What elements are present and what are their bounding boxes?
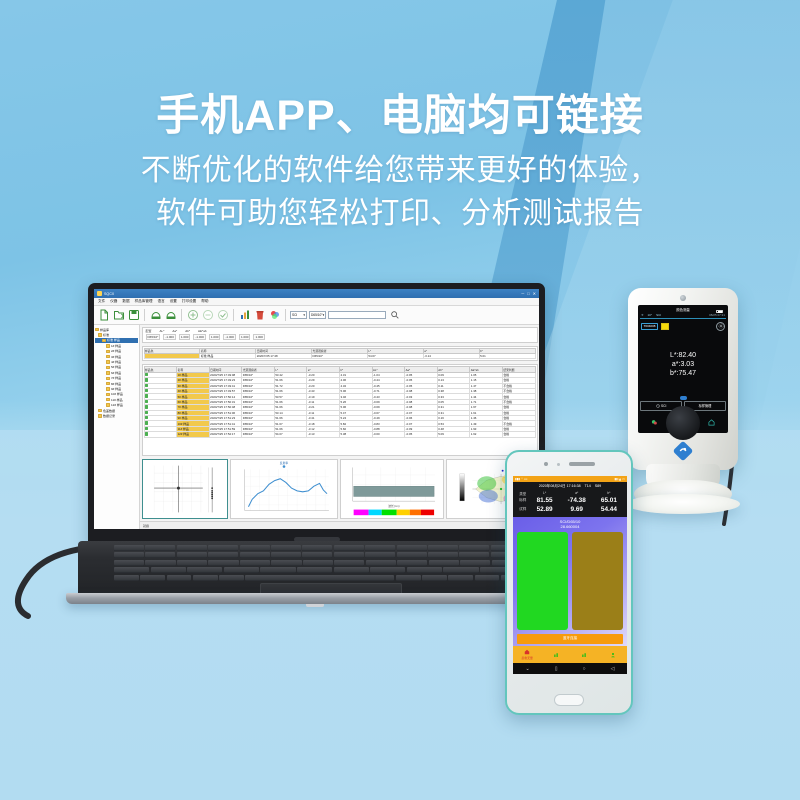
menu-item-language[interactable]: 语言 — [158, 299, 165, 304]
key[interactable] — [271, 545, 301, 551]
key[interactable] — [114, 575, 139, 581]
key[interactable] — [428, 545, 458, 551]
phone-row-value: 65.01 — [594, 496, 624, 505]
svg-text:波长(nm): 波长(nm) — [388, 504, 399, 508]
folder-icon — [106, 360, 110, 363]
window-titlebar: SQCX ─ □ ✕ — [94, 289, 539, 298]
phone-row-label: 试样 — [516, 505, 530, 514]
key[interactable] — [187, 567, 222, 573]
tab-list[interactable] — [570, 652, 599, 658]
device-observer: 10° — [648, 313, 653, 317]
laptop-lid: SQCX ─ □ ✕ 文件 仪器 数据 样品库管理 语言 设置 打印设置 — [88, 283, 545, 546]
device-sci-label: SCI — [661, 404, 666, 408]
illuminant-value: D65/10° — [311, 313, 323, 317]
key[interactable] — [370, 567, 405, 573]
key[interactable] — [245, 575, 394, 581]
device-sensor-dot — [680, 295, 686, 301]
standard-config-values: D65/10°-1.0001.000-1.0001.000-1.0001.000… — [144, 333, 536, 341]
table-cell: -0.05 — [405, 432, 438, 437]
toolbar-separator-1 — [144, 309, 145, 321]
menu-item-file[interactable]: 文件 — [98, 299, 105, 304]
circle-icon[interactable]: ○ — [583, 666, 586, 672]
folder-icon — [106, 382, 110, 385]
tree-node-label: 标准 样品 — [107, 338, 120, 342]
chevron-down-icon[interactable]: ▾ — [303, 313, 305, 317]
key[interactable] — [114, 560, 144, 566]
row-check-icon[interactable] — [145, 400, 148, 403]
standard-swatch — [517, 532, 568, 629]
key[interactable] — [114, 567, 149, 573]
window-body: 样品库标准标准 样品1# 样品2# 样品3# 样品4# 样品5# 样品6# 样品… — [94, 325, 539, 529]
measurement-table[interactable]: 样品色名称日期时间光源观察者L*a*b*ΔL*Δa*Δb*ΔE*ab结果判断 1… — [144, 366, 536, 437]
std-row-cell-4: 54.67 — [367, 354, 423, 359]
tree-node-label: 3# 样品 — [111, 355, 121, 359]
folder-icon — [106, 371, 110, 374]
tab-color-measure[interactable]: 颜色无量 — [513, 649, 542, 660]
key[interactable] — [271, 552, 301, 558]
chevron-down-icon[interactable]: ▾ — [323, 313, 325, 317]
key[interactable] — [459, 552, 489, 558]
std-config-value-0: D65/10° — [146, 334, 161, 340]
headline-block: 手机APP、电脑均可链接 不断优化的软件给您带来更好的体验， 软件可助您轻松打印… — [0, 92, 800, 235]
measurement-table-panel[interactable]: 样品色名称日期时间光源观察者L*a*b*ΔL*Δa*Δb*ΔE*ab结果判断 1… — [142, 364, 538, 455]
battery-icon — [716, 310, 723, 313]
device-color-swatch — [661, 323, 669, 330]
laptop: SQCX ─ □ ✕ 文件 仪器 数据 样品库管理 语言 设置 打印设置 — [60, 283, 570, 623]
phone-tag-s: S89 — [595, 484, 601, 489]
search-input[interactable] — [328, 311, 386, 319]
device-chip-row[interactable]: T004008 — [640, 319, 726, 333]
palette-icon[interactable] — [651, 413, 658, 431]
folder-icon — [102, 339, 106, 342]
standard-row-table: 样品色名称日期时间光源观察者L*a*b* 标准 样品2020/7/25 17:4… — [144, 348, 536, 360]
tab-color-measure-label: 颜色无量 — [522, 656, 533, 660]
laptop-keyboard[interactable] — [114, 545, 552, 581]
folder-icon — [106, 344, 110, 347]
menubar[interactable]: 文件 仪器 数据 样品库管理 语言 设置 打印设置 帮助 — [94, 298, 539, 306]
tree-node-label: 10# 样品 — [111, 392, 123, 396]
illuminant-select[interactable]: D65/10° ▾ — [309, 311, 326, 319]
trash-icon[interactable] — [253, 309, 266, 322]
device-mode: SCI — [656, 313, 661, 317]
bluetooth-connect-button[interactable]: 蓝牙连接 — [517, 634, 623, 644]
menu-item-print[interactable]: 打印设置 — [182, 299, 196, 304]
key[interactable] — [334, 545, 364, 551]
key[interactable] — [429, 560, 459, 566]
reflectance-band-chart[interactable]: 波长(nm) — [340, 459, 444, 519]
key[interactable] — [145, 545, 175, 551]
key[interactable] — [151, 567, 186, 573]
phone-measure-meta: 2020年08月24日 17:16:38 T14 S89 — [516, 484, 624, 489]
menu-item-settings[interactable]: 设置 — [170, 299, 177, 304]
table-cell: 5.09 — [437, 432, 470, 437]
toolbar-separator-2 — [181, 309, 182, 321]
tree-node-label: 11# 样品 — [111, 398, 123, 402]
device-sample-tag[interactable]: T004008 — [641, 323, 658, 330]
key[interactable] — [397, 552, 427, 558]
folder-icon — [106, 387, 110, 390]
headline-sub-line1: 不断优化的软件给您带来更好的体验， — [0, 150, 800, 193]
table-row[interactable]: 12# 样品2020/7/25 17:52:17D65/10°54.07-3.1… — [144, 432, 535, 437]
key[interactable] — [260, 567, 295, 573]
key[interactable] — [177, 552, 207, 558]
table-cell: 1.62 — [470, 432, 503, 437]
std-config-value-3: -1.000 — [193, 334, 206, 340]
row-check-icon[interactable] — [145, 432, 148, 435]
row-check-icon[interactable] — [145, 421, 148, 424]
measure-sample-icon[interactable] — [164, 309, 177, 322]
key[interactable] — [428, 552, 458, 558]
chart-icon[interactable] — [238, 309, 251, 322]
color-settings-icon[interactable] — [268, 309, 281, 322]
key[interactable] — [114, 545, 144, 551]
sample-library-tree[interactable]: 样品库标准标准 样品1# 样品2# 样品3# 样品4# 样品5# 样品6# 样品… — [94, 325, 140, 529]
chart-icon — [553, 652, 559, 658]
std-config-value-1: -1.000 — [163, 334, 176, 340]
key[interactable] — [448, 575, 473, 581]
signal-wifi-icons: ▮▮▮ ⌃ ▪▪▪ — [515, 477, 527, 481]
folder-icon — [106, 393, 110, 396]
search-icon[interactable] — [388, 309, 401, 322]
phone-system-nav[interactable]: ⌄ ▯ ○ ◁ — [513, 663, 627, 674]
phone-row-1: 试样52.899.6954.44 — [516, 505, 624, 514]
std-row-cell-6: 5.01 — [479, 354, 535, 359]
home-icon — [524, 649, 530, 655]
key[interactable] — [114, 552, 144, 558]
phone-mode-line: SCI/D65/10 28.660004 — [517, 519, 623, 529]
window-controls[interactable]: ─ □ ✕ — [521, 291, 536, 296]
std-row-cell-2: 2020/7/25 17:48 — [256, 354, 312, 359]
key[interactable] — [365, 545, 395, 551]
key[interactable] — [365, 552, 395, 558]
device-measure-lens — [666, 406, 700, 440]
device-a-value: a*:3.03 — [672, 361, 694, 368]
keyboard-row-3 — [114, 567, 552, 573]
phone-datetime: 2020年08月24日 17:16:38 — [539, 484, 581, 489]
phone-tag-t: T14 — [585, 484, 591, 489]
folder-icon — [106, 377, 110, 380]
std-row-cell-3: D65/10° — [312, 354, 368, 359]
menu-item-library[interactable]: 样品库管理 — [135, 299, 153, 304]
keyboard-row-4 — [114, 575, 552, 581]
phone-swatches — [517, 529, 623, 633]
tree-node-label: 4# 样品 — [111, 360, 121, 364]
status-text: 就绪 — [143, 524, 149, 528]
earpiece-speaker — [569, 462, 595, 465]
phone-row-0: 标样81.55-74.3865.01 — [516, 496, 624, 505]
device-body: 颜色测量 ✳ 10° SCI 08/25 07:31 T004008 — [628, 288, 738, 470]
tree-node-label: 8# 样品 — [111, 382, 121, 386]
table-cell: 2020/7/25 17:52:17 — [209, 432, 242, 437]
headline-sub-line2: 软件可助您轻松打印、分析测试报告 — [0, 193, 800, 236]
table-cell: 12# 样品 — [177, 432, 210, 437]
key[interactable] — [271, 560, 301, 566]
std-config-value-5: -1.000 — [223, 334, 236, 340]
key[interactable] — [443, 567, 478, 573]
row-check-icon[interactable] — [145, 373, 148, 376]
key[interactable] — [208, 560, 238, 566]
phone-swatch-panel: SCI/D65/10 28.660004 蓝牙连接 — [513, 517, 627, 646]
tree-node-label: 1# 样品 — [111, 344, 121, 348]
tree-node-label: 标准 — [103, 333, 109, 337]
keyboard-row-2 — [114, 560, 552, 566]
key[interactable] — [208, 545, 238, 551]
table-cell: 54.07 — [274, 432, 307, 437]
folder-icon — [95, 328, 99, 331]
list-icon — [581, 652, 587, 658]
key[interactable] — [240, 560, 270, 566]
std-config-header-4: ΔE*ab — [198, 329, 207, 333]
table-cell: -0.60 — [372, 432, 405, 437]
phone-row-value: 81.55 — [530, 496, 560, 505]
key[interactable] — [459, 545, 489, 551]
table-cell — [144, 432, 177, 437]
key[interactable] — [334, 560, 364, 566]
phone-row-value: -74.38 — [560, 496, 594, 505]
phone-row-value: 54.44 — [594, 505, 624, 514]
standard-config-panel: 配置ΔL*Δa*Δb*ΔE*ab D65/10°-1.0001.000-1.00… — [142, 327, 538, 343]
phone-screen: ▮▮▮ ⌃ ▪▪▪ ▮▮ ⬓ ▭ 2020年08月24日 17:16:38 T1… — [513, 476, 627, 674]
keyboard-row-0 — [114, 545, 552, 551]
handheld-colorimeter: 颜色测量 ✳ 10° SCI 08/25 07:31 T004008 — [620, 288, 748, 618]
phone-row-value: 9.69 — [560, 505, 594, 514]
key[interactable] — [145, 552, 175, 558]
tree-node-label: 色差数据 — [103, 409, 115, 413]
phone-body: ▮▮▮ ⌃ ▪▪▪ ▮▮ ⬓ ▭ 2020年08月24日 17:16:38 T1… — [505, 450, 633, 715]
sample-swatch — [572, 532, 623, 629]
tree-node-15[interactable]: 数据记录 — [95, 413, 138, 418]
tab-chart[interactable] — [542, 652, 571, 658]
toolbar[interactable]: SCI ▾ D65/10° ▾ — [94, 306, 539, 325]
device-base-plate — [626, 494, 740, 514]
key[interactable] — [177, 545, 207, 551]
spectral-curve-chart[interactable]: 反射率 — [230, 459, 338, 519]
key[interactable] — [397, 545, 427, 551]
device-l-value: L*:82.40 — [670, 352, 696, 359]
std-config-value-2: 1.000 — [179, 334, 191, 340]
tree-node-label: 7# 样品 — [111, 376, 121, 380]
folder-icon — [106, 355, 110, 358]
key[interactable] — [208, 552, 238, 558]
triangle-back-icon[interactable]: ◁ — [611, 666, 615, 672]
folder-icon — [106, 403, 110, 406]
phone-row-value: 52.89 — [530, 505, 560, 514]
row-check-icon[interactable] — [145, 405, 148, 408]
folder-icon — [106, 398, 110, 401]
device-timestamp: 08/25 07:31 — [709, 313, 725, 317]
app-logo-icon — [97, 291, 102, 296]
tree-node-label: 9# 样品 — [111, 387, 121, 391]
close-icon[interactable]: ✕ — [533, 291, 536, 296]
diamond-logo-icon — [672, 440, 694, 462]
laptop-deck — [78, 541, 552, 598]
window-title: SQCX — [104, 292, 114, 296]
row-check-icon[interactable] — [145, 411, 148, 414]
table-cell: 合格 — [502, 432, 535, 437]
phone-home-button[interactable] — [554, 694, 584, 706]
phone-lab-table: 类型L*a*b* 标样81.55-74.3865.01试样52.899.6954… — [516, 490, 624, 514]
folder-icon — [106, 366, 110, 369]
std-config-header-2: Δa* — [172, 329, 177, 333]
bluetooth-icon: ✳ — [641, 313, 644, 317]
folder-icon — [98, 333, 102, 336]
row-check-icon[interactable] — [145, 394, 148, 397]
key[interactable] — [460, 560, 490, 566]
folder-icon — [106, 350, 110, 353]
key[interactable] — [240, 545, 270, 551]
key[interactable] — [422, 575, 447, 581]
key[interactable] — [302, 552, 332, 558]
tab-user[interactable] — [599, 652, 628, 658]
maximize-icon[interactable]: □ — [527, 291, 529, 296]
tree-node-label: 样品库 — [100, 328, 109, 332]
key[interactable] — [475, 575, 500, 581]
observer-select[interactable]: SCI ▾ — [290, 311, 307, 319]
delete-row-icon[interactable] — [201, 309, 214, 322]
row-check-icon[interactable] — [145, 427, 148, 430]
std-row-cell-5: -3.14 — [423, 354, 479, 359]
spectral-chart-title: 反射率 — [231, 461, 337, 465]
menu-item-device[interactable]: 仪器 — [110, 299, 117, 304]
laptop-latch-notch — [306, 604, 324, 607]
key[interactable] — [334, 567, 369, 573]
measure-standard-icon[interactable] — [149, 309, 162, 322]
toolbar-separator-4 — [285, 309, 286, 321]
open-file-icon[interactable] — [112, 309, 125, 322]
key[interactable] — [177, 560, 207, 566]
std-config-header-1: ΔL* — [160, 329, 165, 333]
user-icon — [610, 652, 616, 658]
std-config-value-4: 1.000 — [209, 334, 221, 340]
battery-time-icons: ▮▮ ⬓ ▭ — [614, 477, 625, 481]
headline-main: 手机APP、电脑均可链接 — [0, 92, 800, 140]
statusbar: 就绪 报表 — [140, 521, 539, 529]
laptop-front-edge — [66, 593, 564, 604]
key[interactable] — [224, 567, 259, 573]
table-cell: D65/10° — [242, 432, 275, 437]
std-config-value-7: 1.000 — [253, 334, 265, 340]
keyboard-row-1 — [114, 552, 552, 558]
minimize-icon[interactable]: ─ — [521, 291, 524, 296]
charts-strip: 反射率 — [140, 457, 539, 521]
tree-node-label: 12# 样品 — [111, 403, 123, 407]
device-sub-bar: ✳ 10° SCI 08/25 07:31 — [640, 312, 726, 319]
key[interactable] — [396, 575, 421, 581]
front-camera-icon — [544, 462, 548, 466]
key[interactable] — [167, 575, 192, 581]
square-icon[interactable]: ▯ — [555, 666, 558, 672]
key[interactable] — [219, 575, 244, 581]
software-window: SQCX ─ □ ✕ 文件 仪器 数据 样品库管理 语言 设置 打印设置 — [94, 289, 539, 529]
gear-icon[interactable] — [716, 322, 725, 331]
key[interactable] — [397, 560, 427, 566]
row-check-icon[interactable] — [145, 384, 148, 387]
new-file-icon[interactable] — [97, 309, 110, 322]
proximity-sensor-icon — [557, 463, 560, 466]
std-config-header-3: Δb* — [185, 329, 190, 333]
tree-node-label: 2# 样品 — [111, 349, 121, 353]
tree-node-label: 5# 样品 — [111, 365, 121, 369]
key[interactable] — [140, 575, 165, 581]
check-icon[interactable] — [216, 309, 229, 322]
folder-icon — [98, 414, 102, 417]
chevron-down-icon[interactable]: ⌄ — [526, 666, 530, 672]
std-row-cell-1: 标准 样品 — [200, 354, 256, 359]
phone-measurement-block: 2020年08月24日 17:16:38 T14 S89 类型L*a*b* 标样… — [513, 482, 627, 517]
key[interactable] — [297, 567, 332, 573]
row-check-icon[interactable] — [145, 416, 148, 419]
banner-stage: 手机APP、电脑均可链接 不断优化的软件给您带来更好的体验， 软件可助您轻松打印… — [0, 0, 800, 800]
laptop-base — [60, 541, 570, 611]
table-cell: 5.38 — [339, 432, 372, 437]
save-icon[interactable] — [127, 309, 140, 322]
phone-tabbar[interactable]: 颜色无量 — [513, 646, 627, 663]
observer-value: SCI — [292, 313, 297, 317]
row-check-icon[interactable] — [145, 378, 148, 381]
key[interactable] — [334, 552, 364, 558]
standard-row-panel: 样品色名称日期时间光源观察者L*a*b* 标准 样品2020/7/25 17:4… — [142, 346, 538, 362]
std-row-cell-0 — [144, 354, 200, 359]
menu-item-help[interactable]: 帮助 — [201, 299, 208, 304]
key[interactable] — [302, 545, 332, 551]
device-b-value: b*:75.47 — [670, 370, 696, 377]
device-screen-title: 颜色测量 — [640, 307, 726, 312]
key[interactable] — [303, 560, 333, 566]
add-icon[interactable] — [186, 309, 199, 322]
content-area: 配置ΔL*Δa*Δb*ΔE*ab D65/10°-1.0001.000-1.00… — [140, 325, 539, 529]
key[interactable] — [193, 575, 218, 581]
home-icon[interactable] — [708, 413, 715, 431]
phone-earpiece-row — [507, 452, 631, 476]
key[interactable] — [240, 552, 270, 558]
phone-row-label: 标样 — [516, 496, 530, 505]
key[interactable] — [407, 567, 442, 573]
tree-node-label: 6# 样品 — [111, 371, 121, 375]
menu-item-data[interactable]: 数据 — [122, 299, 129, 304]
key[interactable] — [366, 560, 396, 566]
folder-icon — [98, 409, 102, 412]
std-config-value-6: 1.000 — [239, 334, 251, 340]
device-lab-values: L*:82.40 a*:3.03 b*:75.47 — [640, 333, 726, 396]
table-cell: -3.13 — [307, 432, 340, 437]
key[interactable] — [145, 560, 175, 566]
toolbar-separator-3 — [233, 309, 234, 321]
smartphone: ▮▮▮ ⌃ ▪▪▪ ▮▮ ⬓ ▭ 2020年08月24日 17:16:38 T1… — [505, 450, 633, 715]
std-config-header-0: 配置 — [146, 329, 152, 333]
tree-node-label: 数据记录 — [103, 414, 115, 418]
lab-scatter-chart[interactable] — [142, 459, 228, 519]
row-check-icon[interactable] — [145, 389, 148, 392]
